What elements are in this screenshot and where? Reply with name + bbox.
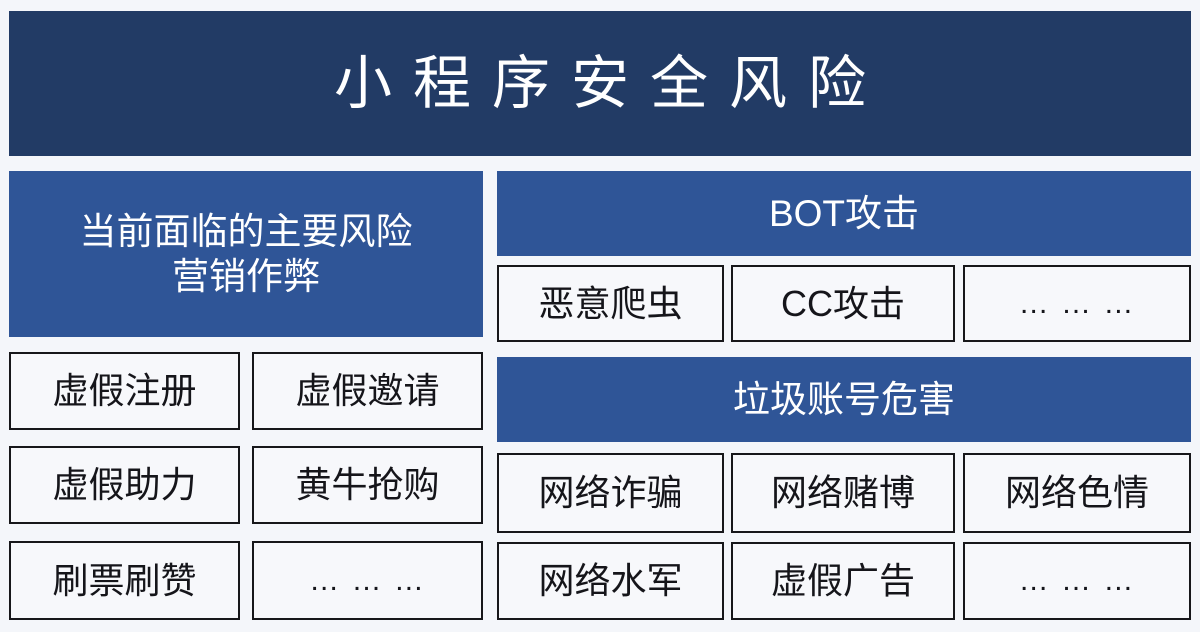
left-section-header: 当前面临的主要风险营销作弊 — [9, 171, 483, 337]
risk-cell-cc-attack[interactable]: CC攻击 — [731, 265, 955, 342]
spam-account-header: 垃圾账号危害 — [497, 357, 1191, 442]
risk-cell-more-bot[interactable]: … … … — [963, 265, 1191, 342]
cell-label: 虚假注册 — [52, 373, 196, 409]
risk-cell-scalper-purchase[interactable]: 黄牛抢购 — [252, 446, 483, 524]
risk-cell-false-advertising[interactable]: 虚假广告 — [731, 542, 955, 620]
bot-attack-header-text: BOT攻击 — [769, 191, 919, 236]
cell-label: 网络诈骗 — [538, 475, 682, 511]
risk-cell-vote-like-farming[interactable]: 刷票刷赞 — [9, 541, 240, 620]
cell-label: 刷票刷赞 — [52, 563, 196, 599]
risk-cell-online-gambling[interactable]: 网络赌博 — [731, 453, 955, 533]
cell-label: 网络赌博 — [771, 475, 915, 511]
bot-attack-header: BOT攻击 — [497, 171, 1191, 256]
risk-cell-fake-boost[interactable]: 虚假助力 — [9, 446, 240, 524]
risk-cell-malicious-crawler[interactable]: 恶意爬虫 — [497, 265, 724, 342]
cell-label: 网络色情 — [1005, 475, 1149, 511]
risk-cell-more-marketing[interactable]: … … … — [252, 541, 483, 620]
cell-label: 虚假助力 — [52, 467, 196, 503]
left-section-header-line2: 营销作弊 — [172, 256, 320, 297]
left-section-header-line1: 当前面临的主要风险 — [80, 211, 413, 252]
spam-account-header-text: 垃圾账号危害 — [733, 377, 955, 422]
cell-label: 虚假广告 — [771, 563, 915, 599]
risk-cell-fake-registration[interactable]: 虚假注册 — [9, 352, 240, 430]
ellipsis-label: … … … — [309, 566, 426, 596]
risk-cell-fake-invitation[interactable]: 虚假邀请 — [252, 352, 483, 430]
risk-cell-online-fraud[interactable]: 网络诈骗 — [497, 453, 724, 533]
cell-label: 恶意爬虫 — [538, 286, 682, 322]
slide-canvas: 小程序安全风险 当前面临的主要风险营销作弊 虚假注册 虚假邀请 虚假助力 黄牛抢… — [0, 0, 1200, 632]
cell-label: CC攻击 — [781, 286, 905, 322]
cell-label: 黄牛抢购 — [295, 467, 439, 503]
risk-cell-more-spam[interactable]: … … … — [963, 542, 1191, 620]
ellipsis-label: … … … — [1019, 566, 1136, 596]
risk-cell-internet-water-army[interactable]: 网络水军 — [497, 542, 724, 620]
ellipsis-label: … … … — [1019, 289, 1136, 319]
cell-label: 网络水军 — [538, 563, 682, 599]
risk-cell-online-pornography[interactable]: 网络色情 — [963, 453, 1191, 533]
slide-title-banner: 小程序安全风险 — [9, 11, 1191, 156]
page-title: 小程序安全风险 — [313, 52, 887, 116]
cell-label: 虚假邀请 — [295, 373, 439, 409]
left-section-header-text: 当前面临的主要风险营销作弊 — [80, 209, 413, 299]
